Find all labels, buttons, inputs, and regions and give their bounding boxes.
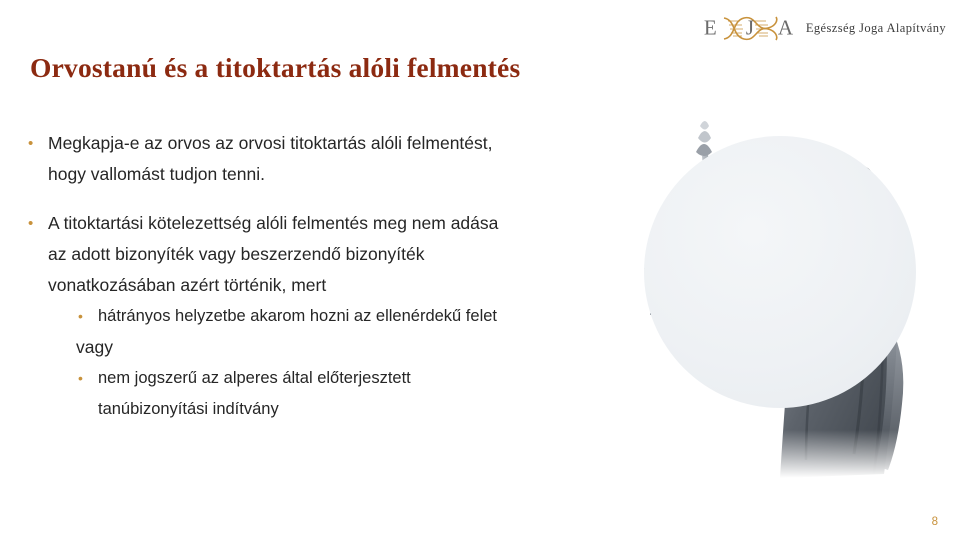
bullet-dot-icon: • (78, 363, 83, 394)
list-item-line: A titoktartási kötelezettség alóli felme… (48, 208, 644, 239)
sub-list-item: • nem jogszerű az alperes által előterje… (76, 363, 644, 425)
logo-monogram-icon: E J A (702, 9, 798, 47)
slide-canvas: E J A Egészség Joga Alapítvány Orvostanú… (0, 0, 960, 540)
list-item-line: hogy vallomást tudjon tenni. (48, 159, 644, 190)
list-item-line: az adott bizonyíték vagy beszerzendő biz… (48, 239, 644, 270)
page-title: Orvostanú és a titoktartás alóli felment… (30, 52, 730, 84)
image-circle-backdrop (644, 136, 916, 408)
sub-list-item-line: tanúbizonyítási indítvány (98, 394, 644, 425)
list-item: • Megkapja-e az orvos az orvosi titoktar… (24, 128, 644, 190)
bullet-dot-icon: • (28, 128, 33, 159)
list-item-line: Megkapja-e az orvos az orvosi titoktartá… (48, 128, 644, 159)
list-item-line: vonatkozásában azért történik, mert (48, 270, 644, 301)
conjunction-text: vagy (76, 332, 644, 363)
list-item: • A titoktartási kötelezettség alóli fel… (24, 208, 644, 425)
logo-letter-j: J (746, 16, 755, 41)
bullet-dot-icon: • (28, 208, 33, 239)
page-number: 8 (932, 516, 938, 528)
logo-letter-a: A (778, 16, 794, 41)
sub-list-item-line: hátrányos helyzetbe akarom hozni az elle… (98, 301, 644, 332)
lady-justice-image (634, 118, 934, 478)
bullet-dot-icon: • (78, 301, 83, 332)
content-body: • Megkapja-e az orvos az orvosi titoktar… (24, 128, 644, 443)
sub-list-item-line: nem jogszerű az alperes által előterjesz… (98, 363, 644, 394)
sub-list-item: • hátrányos helyzetbe akarom hozni az el… (76, 301, 644, 332)
logo-wordmark: Egészség Joga Alapítvány (806, 21, 946, 36)
sub-list: • hátrányos helyzetbe akarom hozni az el… (48, 301, 644, 425)
logo-letter-e: E (704, 16, 718, 41)
brand-logo: E J A Egészség Joga Alapítvány (702, 8, 946, 48)
